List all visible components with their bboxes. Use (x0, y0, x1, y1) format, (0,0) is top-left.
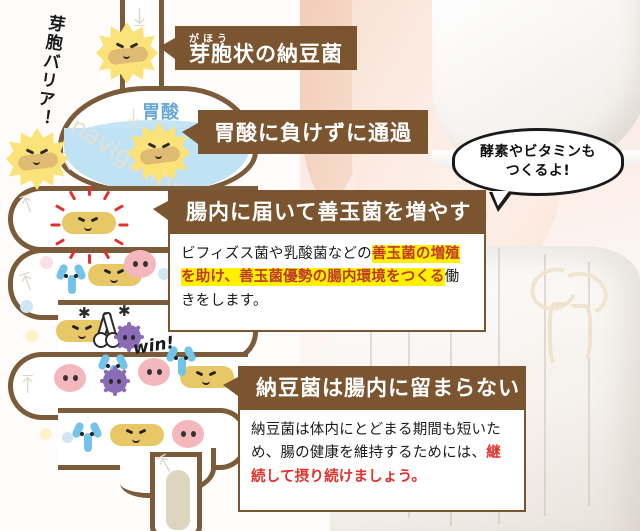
antibody (56, 262, 86, 294)
natto-bacterium (110, 424, 164, 446)
banner-transient-text: 納豆菌は腸内に留まらない (256, 372, 520, 402)
bifidus-bacterium (172, 420, 204, 448)
bubble-line-1: 酵素やビタミンも (480, 144, 596, 160)
banner-gut-text: 腸内に届いて善玉菌を増やす (186, 196, 471, 226)
spore-natto-bacterium (128, 122, 190, 184)
natto-bacterium (62, 212, 116, 234)
banner-transient: 納豆菌は腸内に留まらない (238, 366, 526, 408)
speech-bubble-enzymes: 酵素やビタミンも つくるよ! (452, 128, 624, 196)
antibody (72, 420, 102, 452)
body-pre: ビフィズス菌や乳酸菌などの (181, 246, 372, 262)
bifidus-bacterium (124, 250, 156, 278)
body-text-transient: 納豆菌は体内にとどまる期間も短いため、腸の健康を維持するためには、継続して摂り続… (238, 408, 526, 512)
bubble-line-2: つくるよ! (506, 163, 571, 179)
bifidus-bacterium (54, 364, 86, 392)
stool (166, 470, 190, 530)
bad-bacterium (100, 366, 130, 396)
spore-natto-bacterium (6, 128, 68, 190)
spore-barrier-label: 芽胞バリア！ (28, 13, 69, 129)
spore-natto-bacterium (96, 22, 158, 84)
banner-gut: 腸内に届いて善玉菌を増やす (168, 190, 486, 232)
body-text-gut: ビフィズス菌や乳酸菌などの善玉菌の増殖を助け、善玉菌優勢の腸内環境をつくる働きを… (168, 232, 486, 332)
body-pre: 納豆菌は体内にとどまる期間も短いため、腸の健康を維持するためには、 (251, 422, 501, 461)
banner-acid-text: 胃酸に負けずに通過 (214, 117, 412, 147)
furigana-gahou: がほう (189, 30, 231, 45)
banner-acid: 胃酸に負けずに通過 (198, 110, 428, 154)
drawstring-bow (530, 268, 616, 364)
acid-label: 胃酸 (142, 98, 180, 124)
infographic-canvas: ⤓ 胃酸 ⤓ navigation; ⤓ ⤓ ⤓ ⤓ ⤓ ⤓ (0, 0, 640, 531)
